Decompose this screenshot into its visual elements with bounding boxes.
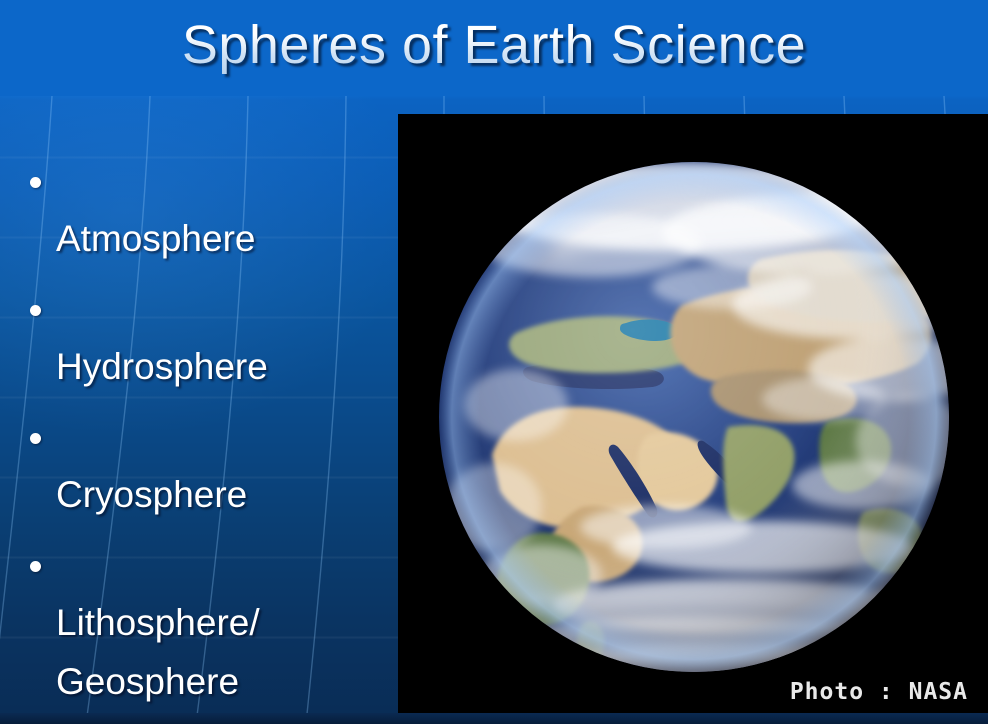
list-item-atmosphere: Atmosphere xyxy=(18,150,398,268)
list-item-lithosphere-geosphere: Lithosphere/ Geosphere xyxy=(18,534,398,711)
bottom-strip xyxy=(0,713,988,724)
list-item-label: Atmosphere xyxy=(56,218,256,259)
page-title: Spheres of Earth Science xyxy=(0,2,988,88)
list-item-label: Cryosphere xyxy=(56,474,247,515)
earth-photo-panel: Photo : NASA xyxy=(398,114,988,713)
earth-globe-image xyxy=(432,155,956,679)
photo-credit: Photo : NASA xyxy=(790,679,968,705)
list-item-cryosphere: Cryosphere xyxy=(18,406,398,524)
list-item-label: Hydrosphere xyxy=(56,346,268,387)
list-item-label: Lithosphere/ Geosphere xyxy=(56,602,260,702)
list-item-hydrosphere: Hydrosphere xyxy=(18,278,398,396)
sphere-list: Atmosphere Hydrosphere Cryosphere Lithos… xyxy=(18,150,398,724)
slide: Spheres of Earth Science Atmosphere Hydr… xyxy=(0,0,988,724)
